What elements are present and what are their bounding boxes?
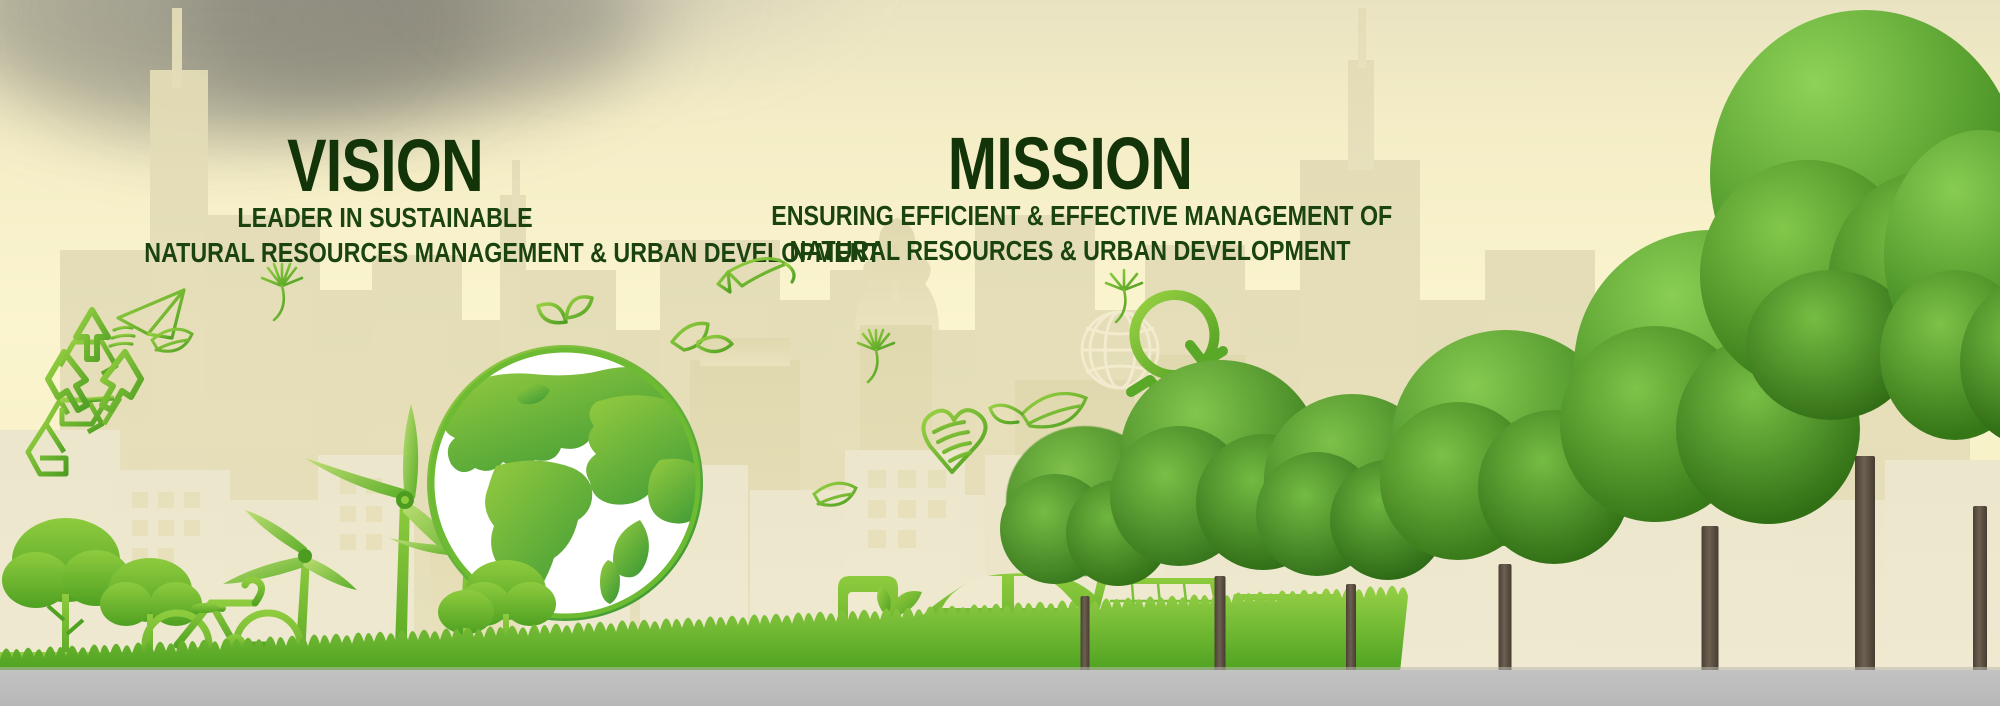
leaf-icon (718, 259, 794, 292)
recycle-triangle-icon-shape (48, 310, 141, 410)
heart-icon (923, 410, 985, 472)
paper-plane-icon (110, 290, 184, 346)
dandelion-icon (262, 264, 302, 320)
road-strip (0, 670, 2000, 706)
sustainability-banner: VISION LEADER IN SUSTAINABLE NATURAL RES… (0, 0, 2000, 706)
sprout-icon (672, 323, 732, 370)
photo-tree (1880, 130, 2000, 706)
leaf-icon (814, 483, 856, 505)
sprout-icon (538, 297, 592, 348)
dandelion-icon (858, 330, 894, 382)
